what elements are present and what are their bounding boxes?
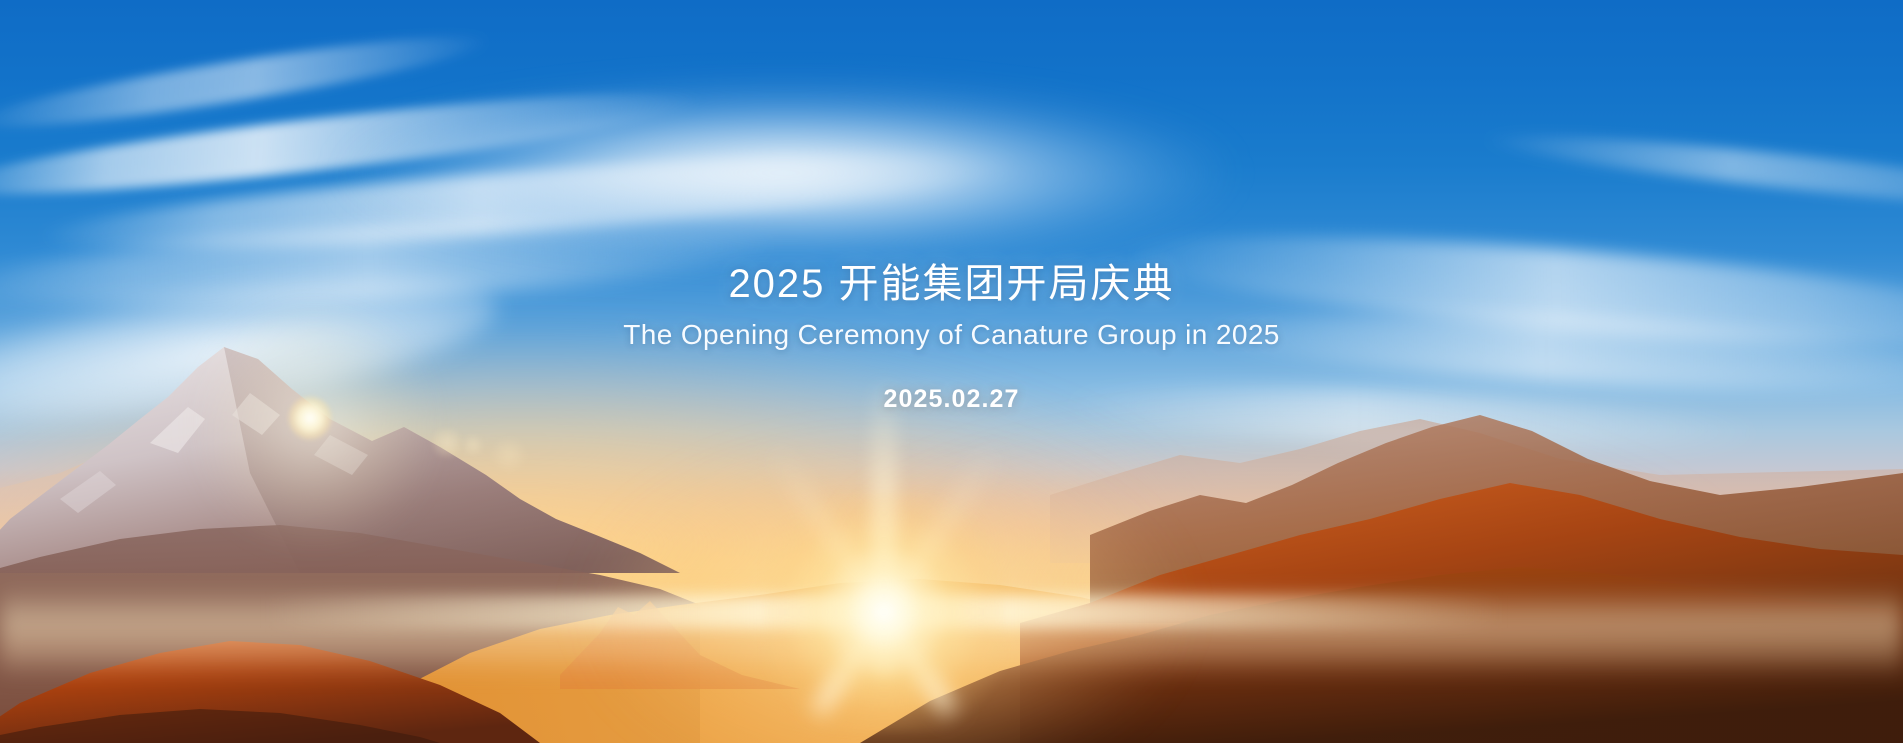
event-banner: 敢想有为 智启未来 2025 开能集团开局庆典 The Opening Cere… [0, 0, 1903, 743]
sky-background [0, 0, 1903, 743]
